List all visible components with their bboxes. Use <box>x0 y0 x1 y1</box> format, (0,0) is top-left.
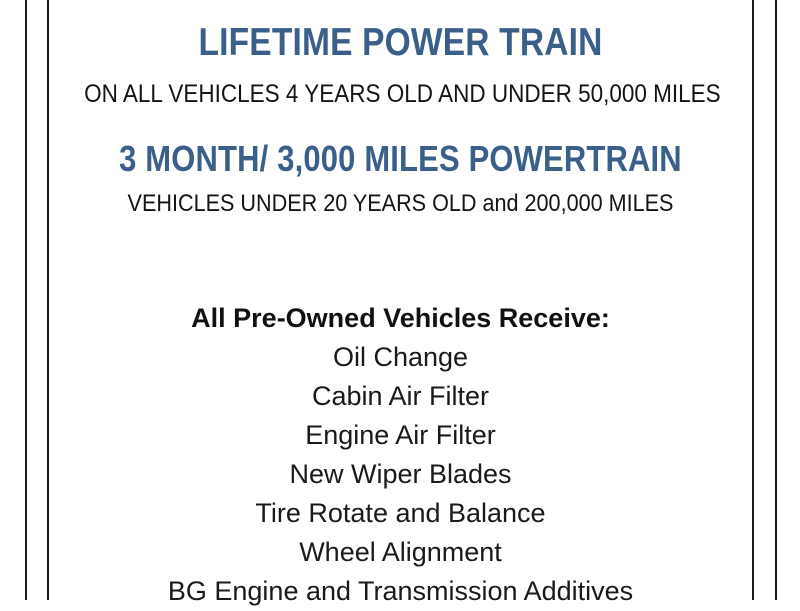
services-list: Oil Change Cabin Air Filter Engine Air F… <box>49 338 752 611</box>
list-item: Oil Change <box>49 338 752 377</box>
list-item: Wheel Alignment <box>49 533 752 572</box>
border-rule-left-outer <box>25 0 27 600</box>
list-item: Cabin Air Filter <box>49 377 752 416</box>
list-item: BG Engine and Transmission Additives <box>49 572 752 611</box>
lifetime-powertrain-subhead: ON ALL VEHICLES 4 YEARS OLD AND UNDER 50… <box>84 82 717 107</box>
border-rule-right-inner <box>752 0 754 600</box>
border-rule-right-outer <box>775 0 777 600</box>
services-title: All Pre-Owned Vehicles Receive: <box>49 299 752 338</box>
list-item: New Wiper Blades <box>49 455 752 494</box>
list-item: Tire Rotate and Balance <box>49 494 752 533</box>
lifetime-powertrain-headline: LIFETIME POWER TRAIN <box>98 23 703 62</box>
three-month-powertrain-subhead: VEHICLES UNDER 20 YEARS OLD and 200,000 … <box>84 192 717 216</box>
flyer-content: LIFETIME POWER TRAIN ON ALL VEHICLES 4 Y… <box>49 0 752 600</box>
services-section: All Pre-Owned Vehicles Receive: Oil Chan… <box>49 299 752 611</box>
warranty-flyer: LIFETIME POWER TRAIN ON ALL VEHICLES 4 Y… <box>0 0 800 600</box>
three-month-powertrain-headline: 3 MONTH/ 3,000 MILES POWERTRAIN <box>98 141 703 177</box>
list-item: Engine Air Filter <box>49 416 752 455</box>
